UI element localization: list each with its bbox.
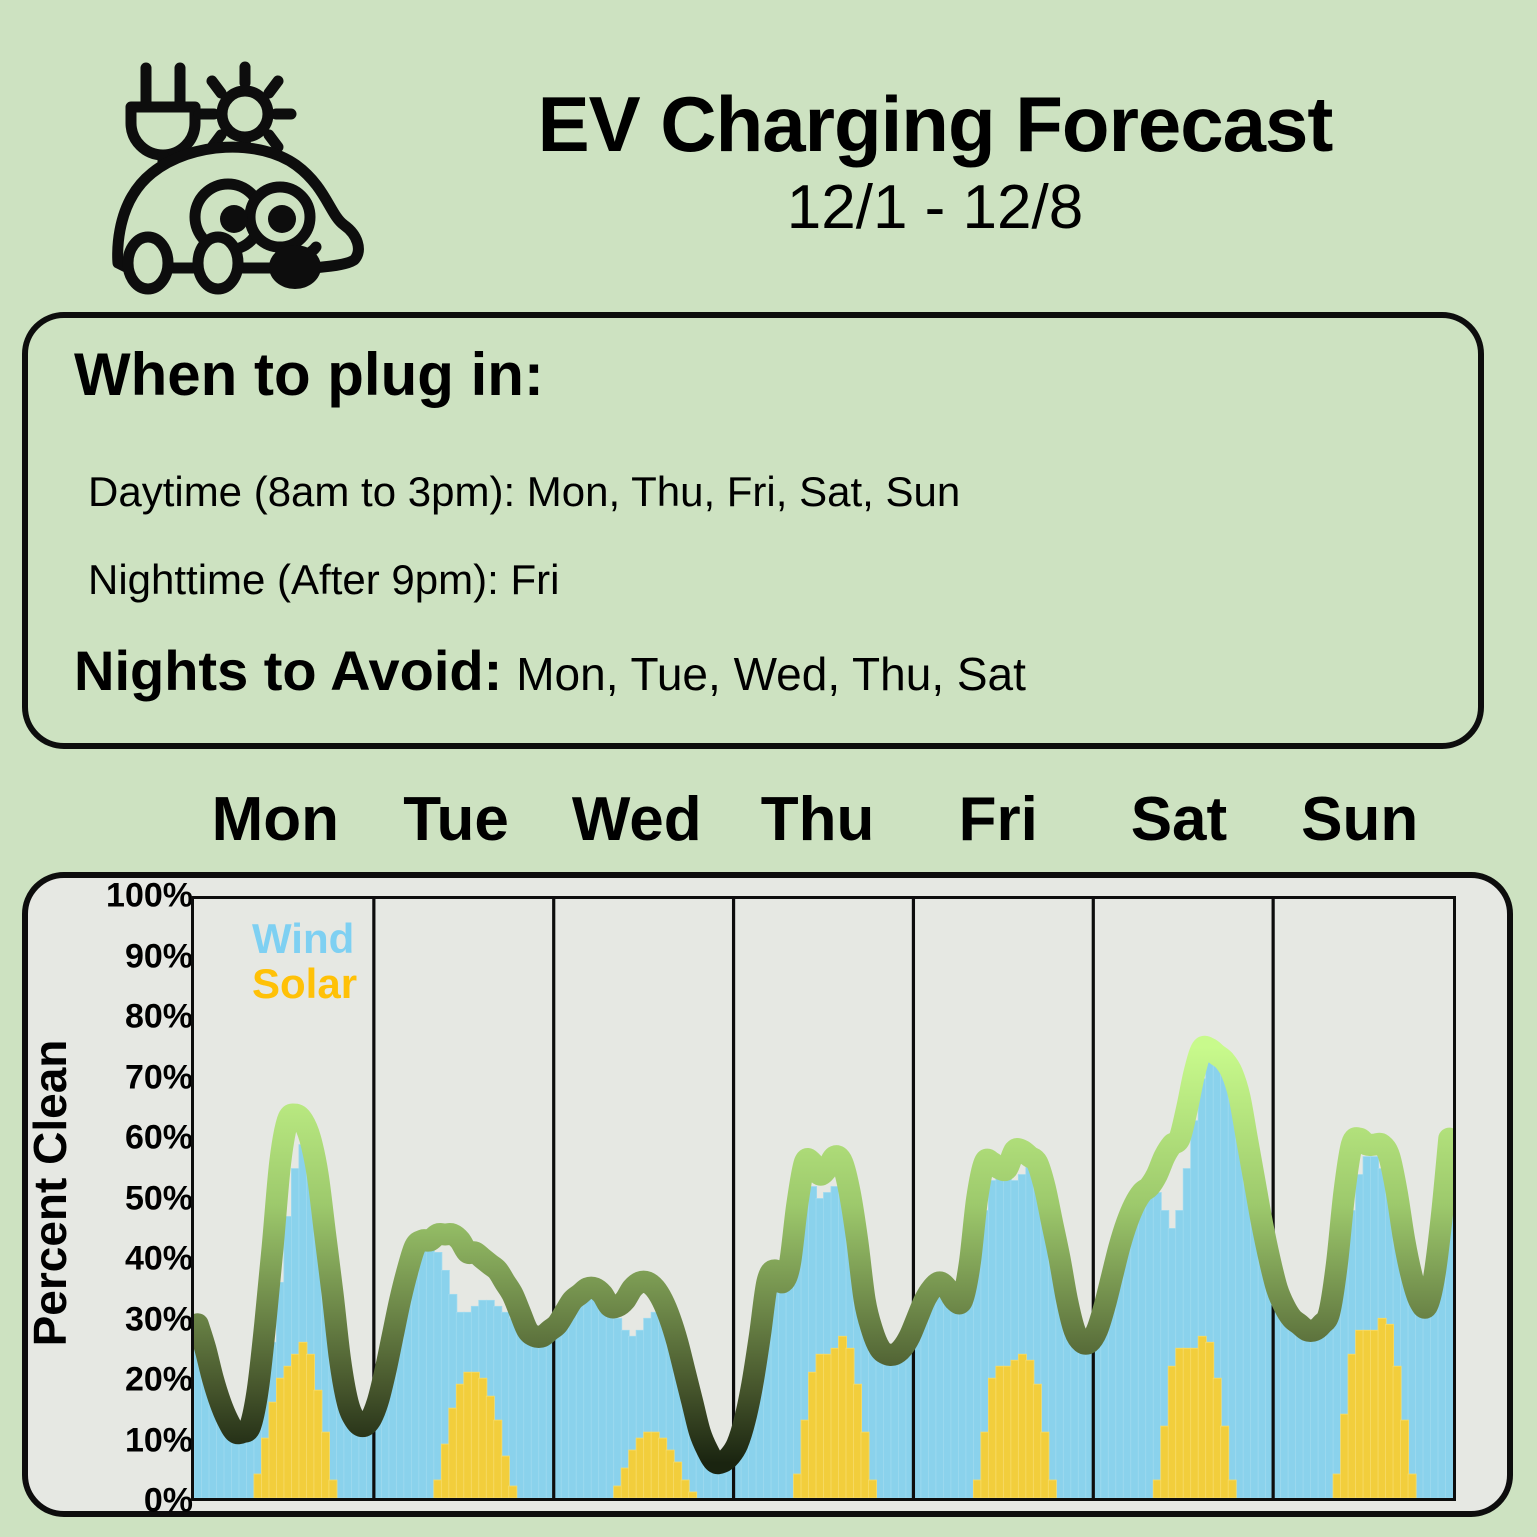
y-axis-ticks: 0%10%20%30%40%50%60%70%80%90%100%	[68, 878, 193, 1508]
y-tick-100: 100%	[106, 877, 193, 916]
chart-legend: Wind Solar	[252, 917, 357, 1006]
y-tick-60: 60%	[125, 1119, 193, 1158]
ev-car-sun-plug-icon	[100, 45, 380, 295]
nighttime-recommendation: Nighttime (After 9pm): Fri	[88, 556, 559, 604]
title-block: EV Charging Forecast 12/1 - 12/8	[430, 85, 1440, 239]
nights-to-avoid-days: Mon, Tue, Wed, Thu, Sat	[516, 648, 1026, 700]
daytime-recommendation: Daytime (8am to 3pm): Mon, Thu, Fri, Sat…	[88, 468, 960, 516]
day-label-mon: Mon	[185, 780, 366, 860]
y-tick-0: 0%	[144, 1482, 193, 1521]
day-label-thu: Thu	[727, 780, 908, 860]
nights-to-avoid-row: Nights to Avoid:Mon, Tue, Wed, Thu, Sat	[74, 638, 1026, 703]
nights-to-avoid-label: Nights to Avoid:	[74, 639, 502, 702]
when-to-plug-in-card: When to plug in: Daytime (8am to 3pm): M…	[22, 312, 1484, 749]
date-range: 12/1 - 12/8	[430, 177, 1440, 239]
day-label-row: Mon Tue Wed Thu Fri Sat Sun	[185, 780, 1450, 860]
y-tick-30: 30%	[125, 1300, 193, 1339]
legend-item-wind: Wind	[252, 917, 357, 962]
chart-plot-area: Wind Solar	[191, 896, 1456, 1501]
day-label-sat: Sat	[1089, 780, 1270, 860]
y-tick-10: 10%	[125, 1421, 193, 1460]
info-card-title: When to plug in:	[74, 340, 544, 409]
y-tick-40: 40%	[125, 1240, 193, 1279]
day-label-tue: Tue	[366, 780, 547, 860]
y-tick-80: 80%	[125, 998, 193, 1037]
y-tick-70: 70%	[125, 1058, 193, 1097]
y-tick-50: 50%	[125, 1179, 193, 1218]
day-label-sun: Sun	[1269, 780, 1450, 860]
chart-svg	[194, 899, 1453, 1498]
forecast-chart-card: Percent Clean 0%10%20%30%40%50%60%70%80%…	[22, 872, 1513, 1517]
header: EV Charging Forecast 12/1 - 12/8	[0, 0, 1537, 300]
legend-item-solar: Solar	[252, 962, 357, 1007]
y-tick-20: 20%	[125, 1361, 193, 1400]
day-label-fri: Fri	[908, 780, 1089, 860]
day-label-wed: Wed	[546, 780, 727, 860]
y-tick-90: 90%	[125, 937, 193, 976]
page-title: EV Charging Forecast	[430, 85, 1440, 163]
